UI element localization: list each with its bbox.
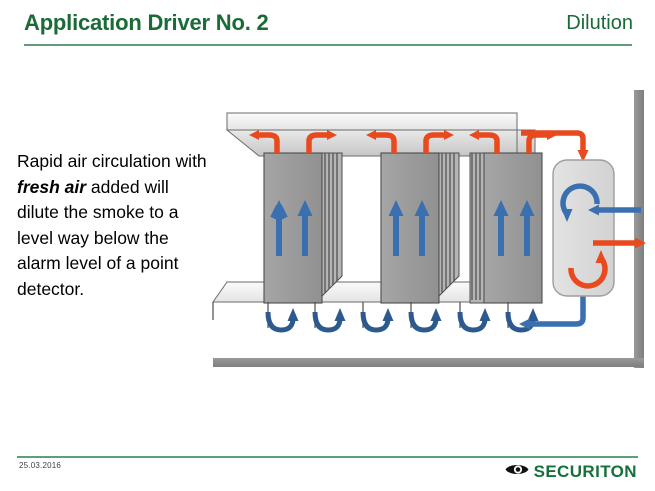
- airflow-diagram: [205, 86, 655, 376]
- brand-name: SECURITON: [534, 462, 637, 482]
- floor-supply-arrow: [315, 302, 346, 330]
- body-text-emphasis: fresh air: [17, 177, 86, 197]
- body-paragraph: Rapid air circulation with fresh air add…: [17, 149, 213, 302]
- room-wall: [634, 90, 644, 368]
- body-text-part1: Rapid air circulation with: [17, 151, 207, 171]
- floor-supply-arrow: [411, 302, 442, 330]
- slide-canvas: Application Driver No. 2 Dilution Rapid …: [0, 0, 655, 491]
- eye-icon: [505, 463, 529, 481]
- air-conditioning-unit: [553, 160, 614, 296]
- floor-supply-arrow: [268, 302, 299, 330]
- footer-date: 25.03.2016: [19, 461, 61, 470]
- page-subtitle: Dilution: [566, 12, 633, 35]
- floor-supply-arrow: [363, 302, 394, 330]
- floor-supply-arrow: [460, 302, 491, 330]
- server-rack: [264, 153, 342, 303]
- footer-divider: [17, 456, 638, 458]
- page-title: Application Driver No. 2: [24, 10, 269, 36]
- securiton-logo: SECURITON: [505, 462, 637, 482]
- room-floor-bar: [213, 358, 644, 367]
- header-divider: [24, 44, 632, 46]
- server-rack: [381, 153, 459, 303]
- server-rack: [470, 153, 542, 303]
